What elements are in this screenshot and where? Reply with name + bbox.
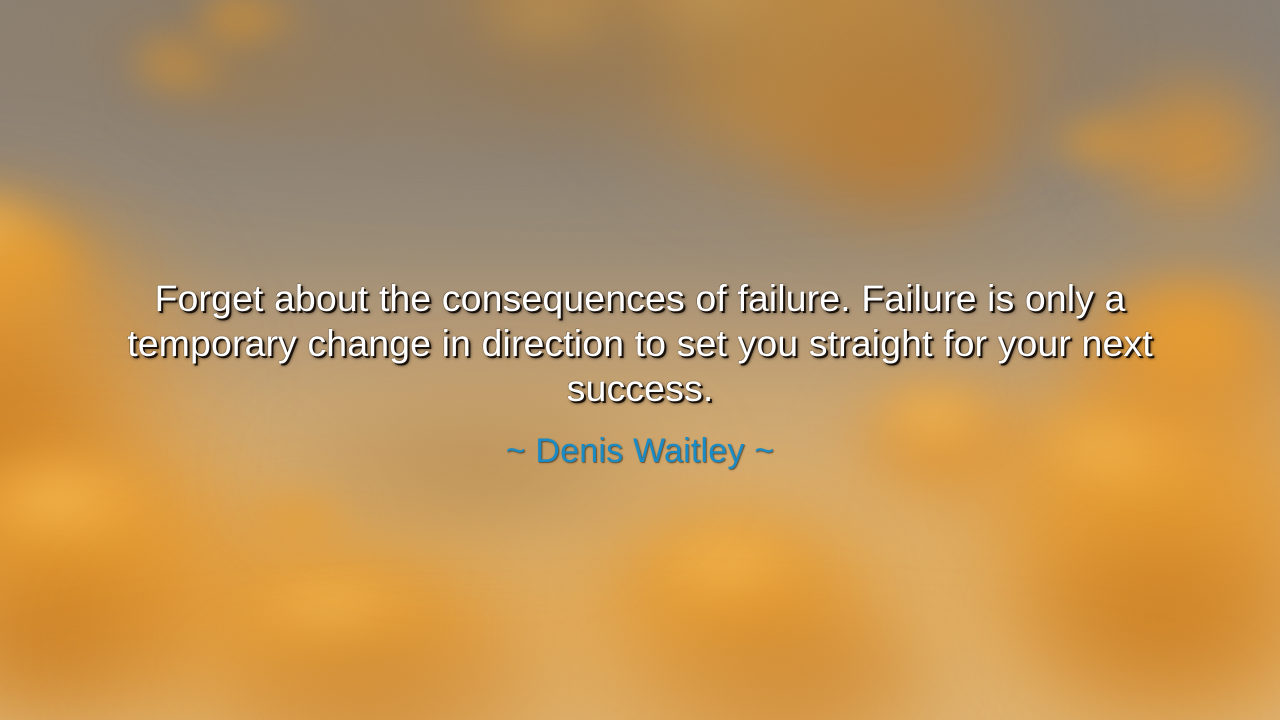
quote-block: Forget about the consequences of failure… [0, 276, 1280, 471]
quote-text: Forget about the consequences of failure… [116, 276, 1164, 411]
quote-author: ~ Denis Waitley ~ [116, 431, 1164, 471]
quote-image-canvas: Forget about the consequences of failure… [0, 0, 1280, 720]
